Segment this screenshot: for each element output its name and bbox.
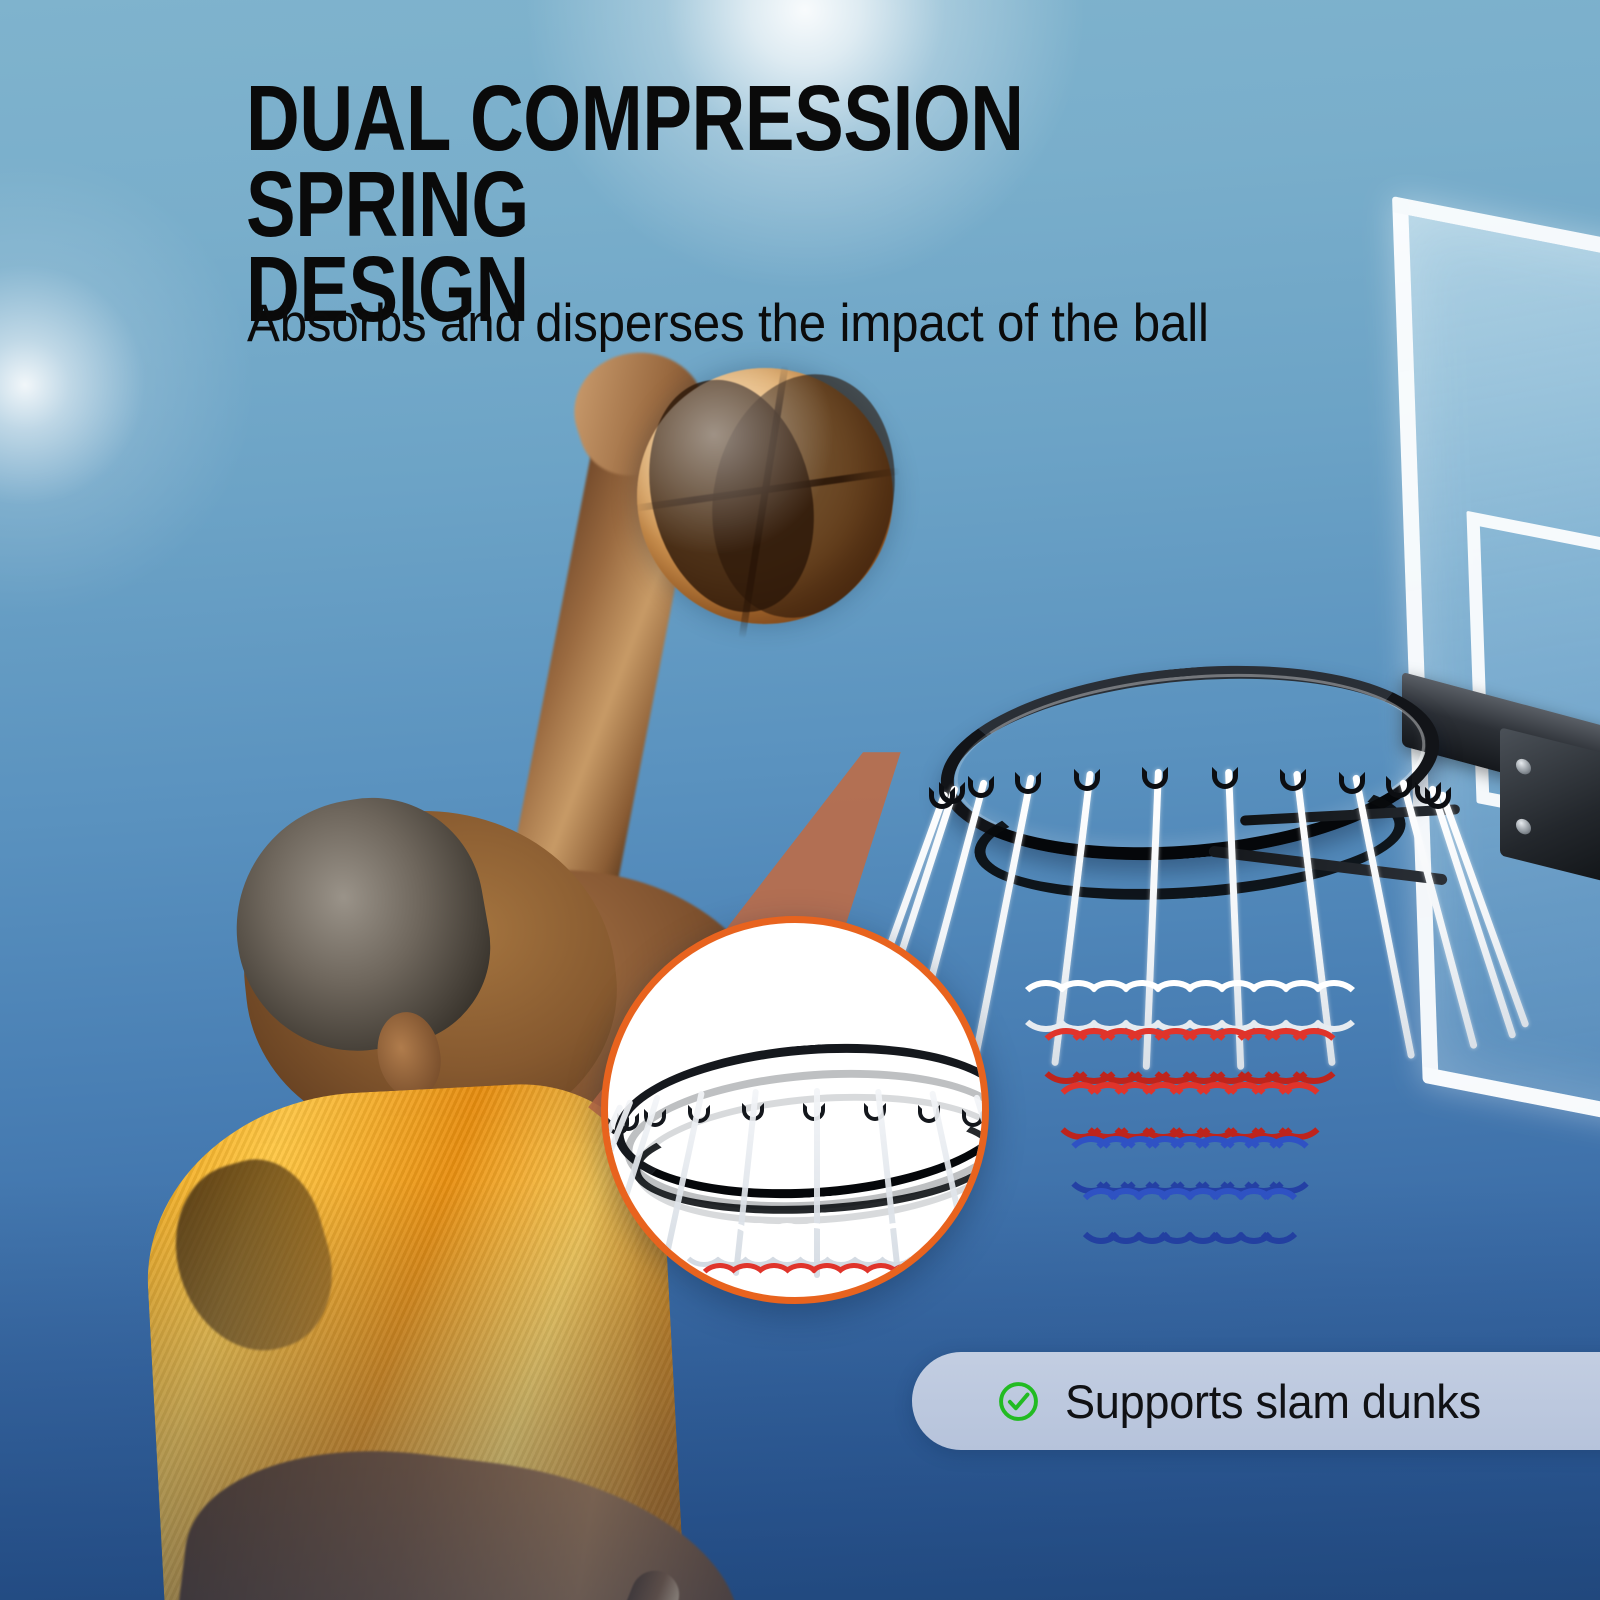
net-hook [1015, 772, 1041, 794]
net-mesh [1261, 1136, 1317, 1194]
inset-net-mesh [817, 1301, 863, 1304]
net-mesh [1284, 1028, 1344, 1084]
net-strand [1352, 774, 1415, 1059]
inset-net-mesh [869, 1301, 915, 1304]
net-hook [1280, 769, 1306, 791]
check-circle-icon [996, 1379, 1041, 1424]
net-mesh [1253, 1188, 1305, 1244]
product-feature-banner: DUAL COMPRESSION SPRING DESIGN Absorbs a… [0, 0, 1600, 1600]
inset-net-mesh [900, 1223, 948, 1267]
net-mesh [1305, 980, 1363, 1032]
inset-net-mesh [843, 1301, 889, 1304]
net-mesh [1270, 1082, 1328, 1140]
hoop-net [940, 730, 1440, 1290]
ball-highlight [637, 368, 893, 624]
player-open-hand [560, 1585, 850, 1600]
badge-label: Supports slam dunks [1065, 1374, 1481, 1429]
callout-circle-inset [601, 916, 989, 1304]
basketball-hoop [940, 660, 1470, 1300]
inset-net-mesh [884, 1263, 932, 1304]
status-badge: Supports slam dunks [912, 1352, 1600, 1450]
page-subtitle: Absorbs and disperses the impact of the … [247, 296, 1410, 352]
net-hook [1074, 769, 1100, 791]
basketball [637, 368, 893, 624]
